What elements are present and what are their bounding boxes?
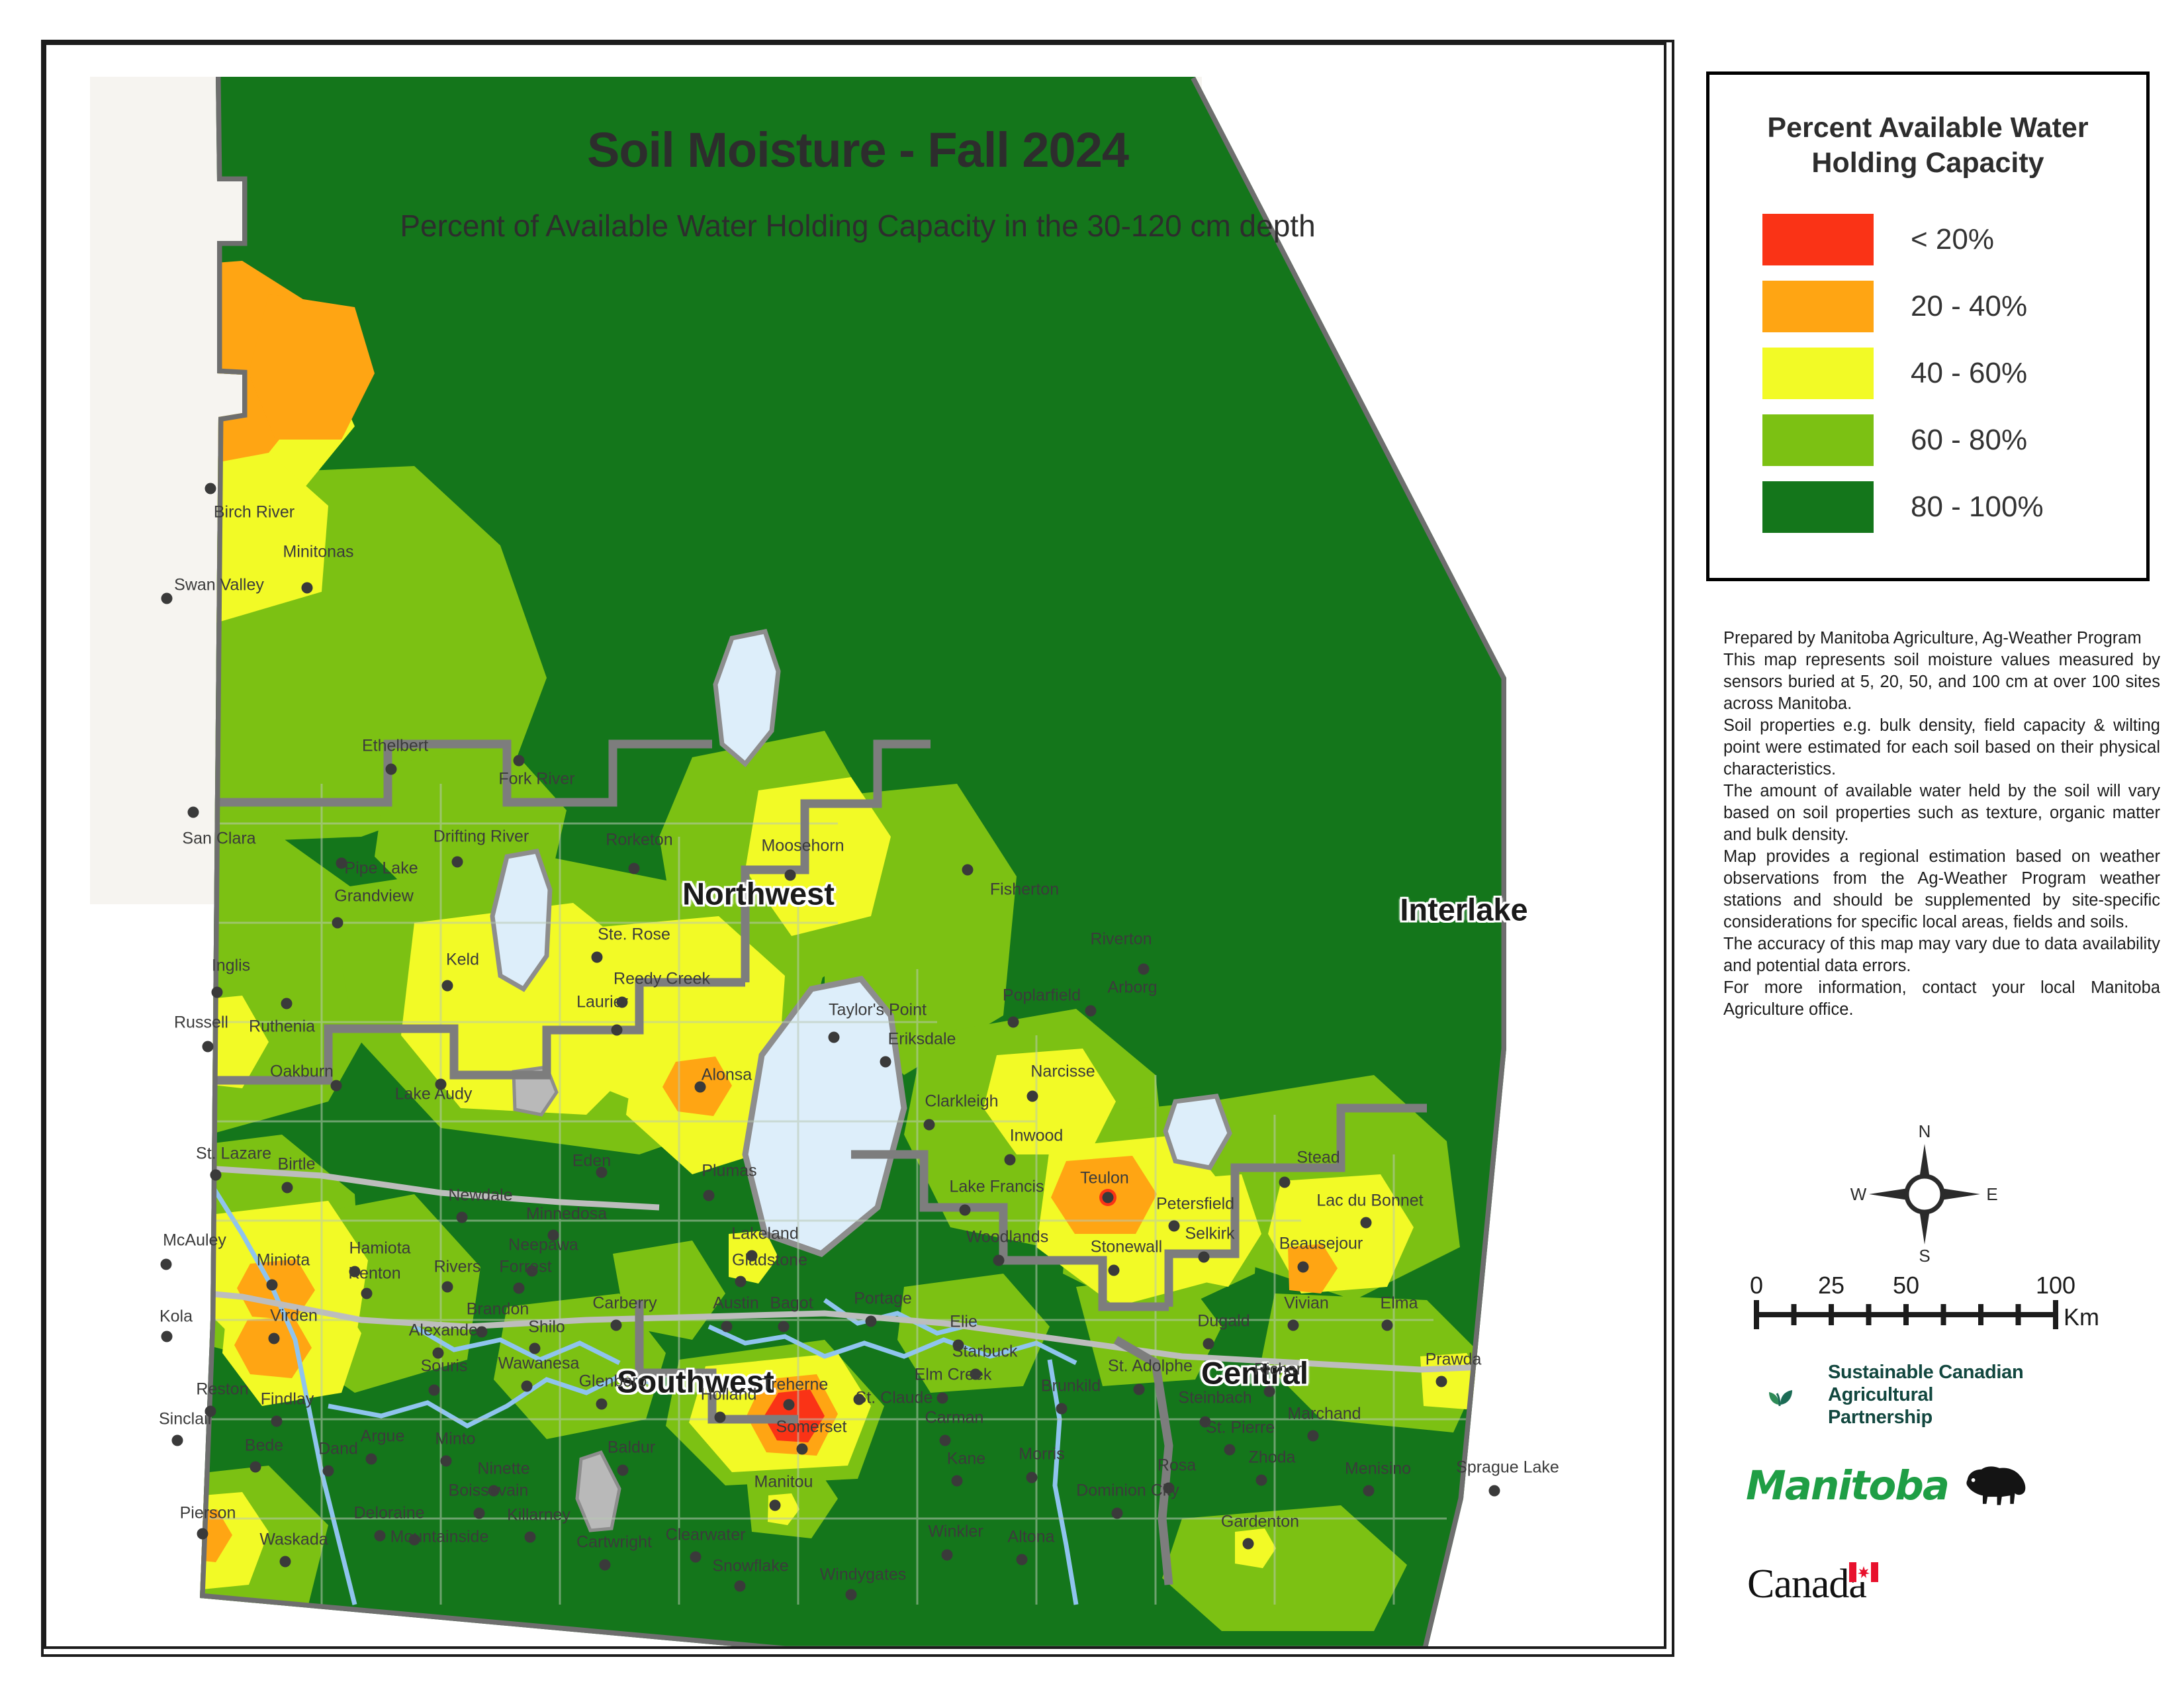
place-label: Ste. Rose	[598, 925, 670, 945]
place-label: St. Lazare	[196, 1145, 271, 1164]
scale-label: 25	[1818, 1272, 1844, 1299]
station-dot[interactable]	[1008, 1017, 1019, 1028]
scale-label: 0	[1750, 1272, 1763, 1299]
place-label: Minitonas	[283, 543, 354, 562]
station-dot[interactable]	[924, 1119, 935, 1131]
station-dot[interactable]	[429, 1385, 440, 1396]
legend-color-swatch	[1762, 214, 1874, 265]
soil-moisture-map-page: Soil Moisture - Fall 2024 Percent of Ava…	[0, 0, 2184, 1688]
station-dot[interactable]	[1169, 1221, 1180, 1232]
station-dot[interactable]	[1027, 1091, 1038, 1102]
place-label: Keld	[446, 951, 479, 970]
place-label: Cartwright	[576, 1533, 652, 1552]
station-dot[interactable]	[205, 483, 216, 494]
region-label: Northwest	[682, 876, 835, 912]
place-label: Narcisse	[1030, 1062, 1095, 1082]
station-dot[interactable]	[1363, 1485, 1375, 1497]
place-label: McAuley	[163, 1231, 226, 1250]
station-dot[interactable]	[940, 1435, 951, 1446]
station-dot[interactable]	[361, 1288, 373, 1299]
place-label: Dugald	[1197, 1312, 1250, 1331]
legend-color-swatch	[1762, 481, 1874, 533]
place-label: Fork River	[498, 770, 574, 789]
station-dot[interactable]	[161, 1331, 173, 1342]
place-label: Killarney	[507, 1506, 570, 1525]
station-dot[interactable]	[600, 1560, 611, 1571]
place-label: Stonewall	[1091, 1238, 1162, 1257]
place-label: Petersfield	[1156, 1195, 1234, 1214]
place-label: Prawda	[1426, 1350, 1482, 1370]
place-label: Taylor's Point	[829, 1001, 927, 1020]
place-label: Inwood	[1010, 1127, 1064, 1146]
place-label: Lake Audy	[395, 1085, 473, 1104]
place-label: Newdale	[448, 1186, 512, 1205]
place-label: Elie	[950, 1313, 978, 1332]
place-label: Argue	[361, 1427, 405, 1446]
station-dot[interactable]	[1436, 1376, 1447, 1387]
map-canvas[interactable]: Soil Moisture - Fall 2024 Percent of Ava…	[44, 42, 1672, 1654]
scap-line1: Sustainable Canadian	[1828, 1362, 2032, 1384]
map-note-paragraph: Soil properties e.g. bulk density, field…	[1723, 715, 2160, 780]
station-dot[interactable]	[1298, 1262, 1309, 1273]
station-dot[interactable]	[474, 1508, 485, 1519]
place-label: Grandview	[334, 887, 414, 906]
station-dot[interactable]	[281, 998, 293, 1009]
scale-unit-label: Km	[2064, 1303, 2099, 1331]
place-label: Riverton	[1090, 930, 1152, 949]
map-note-paragraph: Map provides a regional estimation based…	[1723, 846, 2160, 933]
station-dot[interactable]	[282, 1182, 293, 1194]
scap-mark-icon	[1747, 1362, 1813, 1429]
place-label: Dominion City	[1076, 1481, 1179, 1501]
place-label: Plumas	[702, 1162, 756, 1181]
station-dot[interactable]	[188, 807, 199, 818]
station-dot[interactable]	[336, 858, 347, 869]
place-label: Wawanesa	[498, 1354, 580, 1374]
station-dot[interactable]	[250, 1462, 261, 1473]
station-dot[interactable]	[161, 1259, 172, 1270]
station-dot[interactable]	[409, 1534, 420, 1546]
place-label: Findlay	[261, 1390, 314, 1409]
station-dot[interactable]	[695, 1082, 706, 1093]
station-dot[interactable]	[1203, 1338, 1214, 1350]
legend-item-label: 40 - 60%	[1911, 357, 2027, 390]
station-dot[interactable]	[514, 755, 525, 767]
place-label: Poplarfield	[1003, 986, 1081, 1006]
station-dot[interactable]	[1224, 1444, 1236, 1456]
station-dot[interactable]	[1026, 1472, 1038, 1483]
station-dot[interactable]	[271, 1416, 283, 1427]
station-dot[interactable]	[1085, 1006, 1097, 1017]
station-dot[interactable]	[611, 1320, 622, 1331]
place-label: Clearwater	[666, 1526, 746, 1545]
station-dot[interactable]	[735, 1276, 747, 1288]
place-label: Carberry	[592, 1294, 657, 1313]
station-dot[interactable]	[366, 1454, 377, 1465]
place-label: Gardenton	[1221, 1513, 1299, 1532]
station-dot[interactable]	[441, 1456, 452, 1467]
station-dot[interactable]	[1243, 1538, 1254, 1550]
station-dot[interactable]	[267, 1280, 278, 1291]
station-dot[interactable]	[1109, 1265, 1120, 1276]
place-label: St. Adolphe	[1108, 1357, 1193, 1376]
place-label: Snowflake	[712, 1557, 788, 1576]
place-label: Austin	[713, 1294, 758, 1313]
station-dot[interactable]	[1005, 1154, 1016, 1166]
legend-panel: Percent Available Water Holding Capacity…	[1706, 71, 2150, 581]
station-dot[interactable]	[212, 987, 223, 998]
station-dot[interactable]	[770, 1500, 781, 1511]
legend-item-label: 60 - 80%	[1911, 424, 2027, 457]
place-label: Eriksdale	[888, 1030, 956, 1049]
canada-flag-icon	[1849, 1562, 1878, 1582]
place-label: Laurier	[576, 993, 628, 1012]
place-label: Marchand	[1287, 1405, 1361, 1424]
station-dot[interactable]	[1361, 1217, 1372, 1229]
station-dot[interactable]	[596, 1167, 608, 1178]
legend-item-label: < 20%	[1911, 223, 1994, 256]
station-dot[interactable]	[1103, 1192, 1114, 1203]
station-dot[interactable]	[866, 1316, 877, 1327]
legend-color-swatch	[1762, 281, 1874, 332]
map-note-paragraph: This map represents soil moisture values…	[1723, 649, 2160, 715]
legend-item: 20 - 40%	[1762, 273, 2146, 340]
place-label: Brunkild	[1041, 1377, 1101, 1396]
station-dot[interactable]	[721, 1321, 733, 1333]
place-label: Pierson	[180, 1504, 236, 1523]
legend-item: 80 - 100%	[1762, 474, 2146, 541]
place-label: Deloraine	[353, 1504, 424, 1523]
station-dot[interactable]	[442, 1282, 453, 1293]
place-label: Swan Valley	[174, 576, 264, 595]
map-subtitle: Percent of Available Water Holding Capac…	[44, 208, 1672, 244]
station-dot[interactable]	[797, 1444, 808, 1455]
place-label: Lakeland	[731, 1225, 798, 1244]
scale-label: 50	[1893, 1272, 1919, 1299]
station-dot[interactable]	[937, 1393, 948, 1404]
place-label: Sprague Lake	[1456, 1458, 1559, 1477]
legend-item-label: 80 - 100%	[1911, 491, 2044, 524]
scale-label: 100	[2036, 1272, 2075, 1299]
place-label: Kola	[159, 1307, 193, 1327]
place-label: Reedy Creek	[614, 970, 710, 989]
place-label: Treherne	[762, 1376, 829, 1395]
station-dot[interactable]	[280, 1556, 291, 1568]
canada-wordmark: Canada	[1747, 1564, 1866, 1605]
place-label: St. Pierre	[1206, 1419, 1275, 1438]
place-label: Zhoda	[1249, 1448, 1296, 1468]
manitoba-logo: Manitoba	[1746, 1454, 2030, 1517]
place-label: Alonsa	[702, 1066, 752, 1085]
place-label: Gladstone	[732, 1251, 807, 1270]
place-label: Richer	[1254, 1360, 1302, 1380]
place-label: San Clara	[182, 829, 255, 849]
scale-bar: 02550100Km	[1747, 1263, 2118, 1342]
place-label: Dand	[318, 1440, 358, 1459]
station-dot[interactable]	[302, 583, 313, 594]
place-label: Mountainside	[390, 1528, 489, 1547]
bison-icon	[1959, 1460, 2030, 1511]
station-dot[interactable]	[880, 1056, 891, 1068]
station-dot[interactable]	[457, 1212, 468, 1223]
station-dot[interactable]	[529, 1343, 541, 1354]
legend-item-label: 20 - 40%	[1911, 290, 2027, 323]
legend-item: < 20%	[1762, 207, 2146, 273]
place-label: Minto	[435, 1430, 475, 1449]
place-label: Elm Creek	[915, 1366, 992, 1385]
legend-rows: < 20%20 - 40%40 - 60%60 - 80%80 - 100%	[1709, 207, 2146, 541]
station-dot[interactable]	[993, 1255, 1005, 1266]
place-label: Lake Francis	[949, 1178, 1044, 1197]
place-label: Portage	[854, 1289, 912, 1309]
station-dot[interactable]	[785, 870, 796, 881]
place-label: Stead	[1297, 1149, 1340, 1168]
place-label: Morris	[1019, 1445, 1064, 1464]
place-label: Oakburn	[270, 1062, 334, 1082]
place-label: St. Claude	[856, 1389, 933, 1408]
place-label: Rivers	[434, 1258, 481, 1277]
station-dot[interactable]	[1264, 1386, 1275, 1397]
station-dot[interactable]	[617, 1465, 629, 1476]
place-label: Alexander	[409, 1321, 484, 1340]
place-label: Souris	[421, 1357, 468, 1376]
station-dot[interactable]	[784, 1399, 795, 1411]
place-label: Moosehorn	[761, 837, 844, 856]
station-dot[interactable]	[203, 1041, 214, 1053]
station-dot[interactable]	[386, 764, 397, 775]
compass-north-label: N	[1919, 1121, 1931, 1141]
station-dot[interactable]	[952, 1476, 963, 1487]
legend-color-swatch	[1762, 414, 1874, 466]
station-dot[interactable]	[514, 1283, 525, 1294]
station-dot[interactable]	[854, 1394, 865, 1405]
place-label: Bede	[245, 1436, 283, 1456]
station-dot[interactable]	[522, 1381, 533, 1392]
station-dot[interactable]	[1112, 1508, 1123, 1519]
place-label: Menisino	[1345, 1460, 1411, 1479]
place-label: Pipe Lake	[344, 859, 418, 878]
station-dot[interactable]	[1308, 1430, 1319, 1442]
station-dot[interactable]	[592, 952, 603, 963]
place-label: Starbuck	[952, 1342, 1018, 1362]
station-dot[interactable]	[942, 1550, 953, 1561]
station-dot[interactable]	[1489, 1485, 1500, 1497]
place-label: Ethelbert	[362, 737, 428, 756]
station-dot[interactable]	[1382, 1320, 1393, 1331]
place-label: Inglis	[212, 957, 250, 976]
station-dot[interactable]	[435, 1079, 447, 1090]
place-label: Elma	[1381, 1294, 1418, 1313]
station-dot[interactable]	[1199, 1252, 1210, 1263]
station-dot[interactable]	[172, 1435, 183, 1446]
map-note-paragraph: The accuracy of this map may vary due to…	[1723, 933, 2160, 977]
station-dot[interactable]	[1138, 964, 1150, 975]
station-dot[interactable]	[210, 1170, 222, 1181]
place-label: Lac du Bonnet	[1316, 1192, 1423, 1211]
place-label: Kane	[947, 1450, 985, 1469]
station-dot[interactable]	[829, 1032, 840, 1043]
station-dot[interactable]	[197, 1528, 208, 1540]
legend-item: 40 - 60%	[1762, 340, 2146, 407]
manitoba-wordmark: Manitoba	[1746, 1462, 1948, 1509]
canada-wordmark-logo: Canada	[1747, 1541, 2032, 1605]
place-label: Rosa	[1158, 1456, 1196, 1476]
station-dot[interactable]	[1017, 1554, 1028, 1566]
place-label: Ninette	[477, 1460, 529, 1479]
station-dot[interactable]	[452, 857, 463, 868]
map-title: Soil Moisture - Fall 2024	[44, 122, 1672, 178]
station-dot[interactable]	[735, 1581, 746, 1592]
place-label: Waskada	[259, 1530, 328, 1550]
station-dot[interactable]	[1288, 1320, 1299, 1331]
station-dot[interactable]	[375, 1530, 386, 1542]
place-label: Arborg	[1107, 978, 1157, 998]
scap-line2: Agricultural Partnership	[1828, 1384, 2032, 1429]
place-label: Kenton	[348, 1264, 400, 1284]
place-label: Sinclair	[159, 1410, 213, 1429]
place-label: Carman	[925, 1409, 984, 1428]
station-dot[interactable]	[332, 917, 343, 929]
place-label: Winkler	[928, 1523, 983, 1542]
station-dot[interactable]	[525, 1532, 536, 1543]
map-note-paragraph: Prepared by Manitoba Agriculture, Ag-Wea…	[1723, 628, 2160, 649]
place-label: Ruthenia	[249, 1017, 315, 1037]
station-dot[interactable]	[269, 1333, 280, 1344]
place-label: Drifting River	[433, 827, 529, 847]
station-dot[interactable]	[1134, 1384, 1145, 1395]
legend-title-line1: Percent Available Water	[1709, 111, 2146, 146]
region-label: Interlake	[1400, 892, 1527, 928]
place-label: Clarkleigh	[925, 1092, 998, 1111]
station-dot[interactable]	[715, 1412, 726, 1423]
scap-logo: Sustainable Canadian Agricultural Partne…	[1747, 1358, 2032, 1432]
station-dot[interactable]	[1256, 1475, 1267, 1486]
place-label: Fisherton	[990, 880, 1059, 900]
place-label: Boissevain	[449, 1481, 529, 1501]
place-label: Rorketon	[606, 831, 672, 850]
scap-wordmark: Sustainable Canadian Agricultural Partne…	[1828, 1362, 2032, 1429]
legend-item: 60 - 80%	[1762, 407, 2146, 474]
legend-title: Percent Available Water Holding Capacity	[1709, 111, 2146, 181]
place-label: Minnedosa	[526, 1205, 607, 1224]
map-panel[interactable]: Soil Moisture - Fall 2024 Percent of Ava…	[41, 40, 1674, 1657]
place-label: Birtle	[278, 1155, 316, 1174]
place-label: Russell	[174, 1013, 228, 1033]
place-label: Hamiota	[349, 1239, 410, 1258]
place-label: Steinbach	[1178, 1389, 1251, 1408]
place-label: Baldur	[608, 1438, 655, 1458]
place-label: Selkirk	[1185, 1225, 1234, 1244]
station-dot[interactable]	[846, 1589, 857, 1601]
station-dot[interactable]	[612, 1025, 623, 1036]
legend-title-line2: Holding Capacity	[1709, 146, 2146, 181]
compass-east-label: E	[1986, 1184, 1997, 1204]
station-dot[interactable]	[323, 1466, 334, 1477]
station-dot[interactable]	[962, 865, 974, 876]
place-label: Neepawa	[508, 1236, 578, 1255]
map-note-paragraph: The amount of available water held by th…	[1723, 780, 2160, 846]
place-label: Vivian	[1284, 1294, 1329, 1313]
place-label: Bagot	[770, 1294, 813, 1313]
place-label: Miniota	[257, 1251, 310, 1270]
station-dot[interactable]	[442, 980, 453, 992]
map-note-paragraph: For more information, contact your local…	[1723, 977, 2160, 1021]
station-dot[interactable]	[704, 1190, 715, 1201]
station-dot[interactable]	[629, 863, 640, 874]
place-label: Glenboro	[579, 1372, 647, 1391]
place-label: Birch River	[214, 503, 295, 522]
place-label: Beausejour	[1279, 1235, 1363, 1254]
place-label: Holland	[701, 1385, 757, 1405]
legend-color-swatch	[1762, 348, 1874, 399]
place-label: Manitou	[754, 1473, 813, 1492]
station-dot[interactable]	[778, 1321, 790, 1333]
station-dot[interactable]	[1056, 1403, 1068, 1415]
place-label: Forrest	[499, 1258, 551, 1277]
station-dot[interactable]	[690, 1552, 702, 1563]
compass-rose: N S E W	[1845, 1121, 2004, 1267]
place-label: Teulon	[1080, 1169, 1129, 1188]
place-label: Windygates	[820, 1566, 907, 1585]
station-dot[interactable]	[596, 1399, 608, 1410]
place-label: Somerset	[776, 1418, 847, 1437]
compass-west-label: W	[1850, 1184, 1867, 1204]
place-label: Shilo	[528, 1318, 565, 1337]
place-label: Woodlands	[966, 1228, 1049, 1247]
station-dot[interactable]	[331, 1080, 342, 1092]
place-label: Reston	[196, 1380, 248, 1399]
place-label: Brandon	[467, 1300, 529, 1319]
station-dot[interactable]	[161, 593, 173, 604]
place-label: Altona	[1008, 1528, 1055, 1547]
place-label: Virden	[270, 1307, 318, 1326]
station-dot[interactable]	[1279, 1177, 1291, 1188]
map-notes: Prepared by Manitoba Agriculture, Ag-Wea…	[1723, 628, 2160, 1021]
station-dot[interactable]	[960, 1205, 971, 1216]
